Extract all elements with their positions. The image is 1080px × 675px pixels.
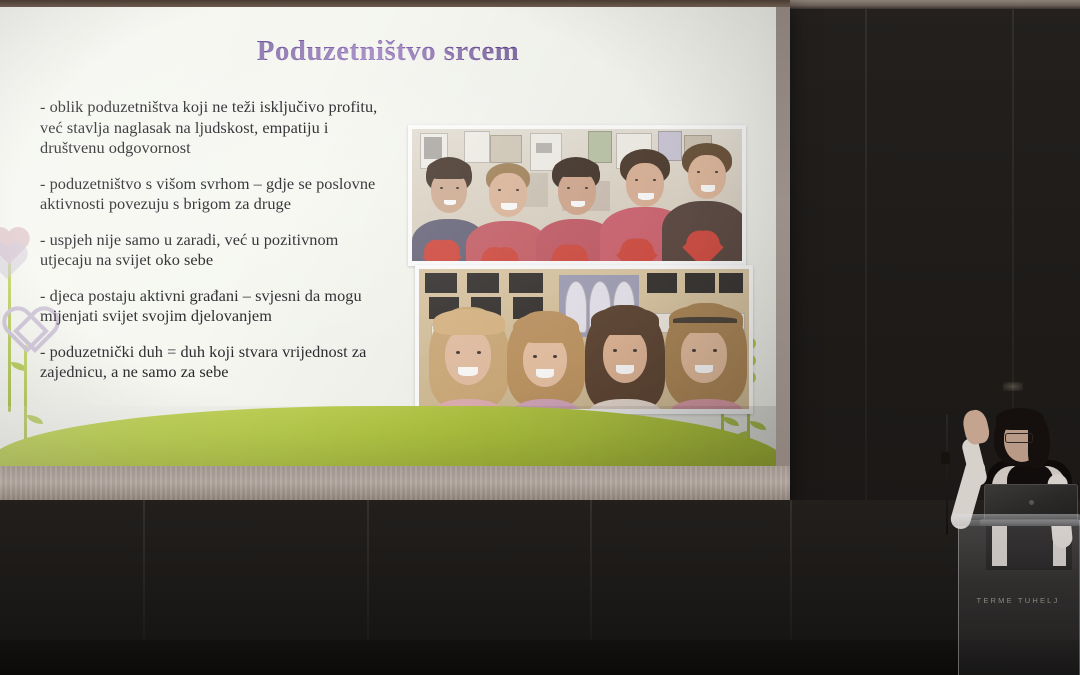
- slide-canvas: Poduzetništvo srcem - oblik poduzetništv…: [0, 7, 776, 468]
- microphone-stand: [946, 415, 948, 535]
- slide-photo-girls: [415, 265, 753, 414]
- floor: [0, 640, 1080, 675]
- bullet-item: - poduzetnički duh = duh koji stvara vri…: [40, 342, 385, 383]
- bullet-item: - djeca postaju aktivni građani – svjesn…: [40, 286, 385, 327]
- bullet-item: - oblik poduzetništva koji ne teži isklj…: [40, 97, 385, 159]
- slide-bullet-list: - oblik poduzetništva koji ne teži isklj…: [40, 97, 385, 398]
- lectern-logo-text: TERME TUHELJ: [958, 596, 1078, 605]
- screen-top-bar: [0, 0, 790, 7]
- presentation-photo: Poduzetništvo srcem - oblik poduzetništv…: [0, 0, 1080, 675]
- projection-screen: Poduzetništvo srcem - oblik poduzetništv…: [0, 0, 790, 500]
- glasses-icon: [1005, 433, 1033, 443]
- screen-valance: [0, 466, 790, 502]
- slide-title: Poduzetništvo srcem: [0, 35, 776, 68]
- slide-photo-boys: [408, 125, 746, 266]
- bullet-item: - poduzetništvo s višom svrhom – gdje se…: [40, 174, 385, 215]
- bullet-item: - uspjeh nije samo u zaradi, već u pozit…: [40, 230, 385, 271]
- slide-accent-band: [0, 406, 776, 468]
- microphone-head: [941, 452, 950, 464]
